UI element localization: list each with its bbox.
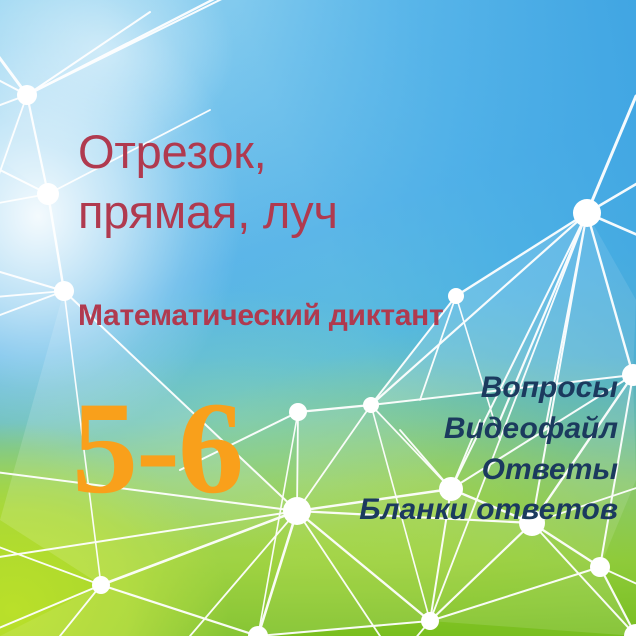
grade-range-label: 5-6 <box>72 382 242 514</box>
link-item-answer-forms[interactable]: Бланки ответов <box>359 490 618 531</box>
poster-subtitle: Математический диктант <box>78 299 443 333</box>
link-item-questions[interactable]: Вопросы <box>359 368 618 409</box>
resource-link-list: Вопросы Видеофайл Ответы Бланки ответов <box>359 368 618 531</box>
poster-content: Отрезок, прямая, луч Математический дикт… <box>0 0 636 636</box>
poster-canvas: .pl { fill: #ffffff; } .ln { stroke: #ff… <box>0 0 636 636</box>
link-item-videofile[interactable]: Видеофайл <box>359 409 618 450</box>
link-item-answers[interactable]: Ответы <box>359 450 618 491</box>
poster-title: Отрезок, прямая, луч <box>78 122 338 242</box>
